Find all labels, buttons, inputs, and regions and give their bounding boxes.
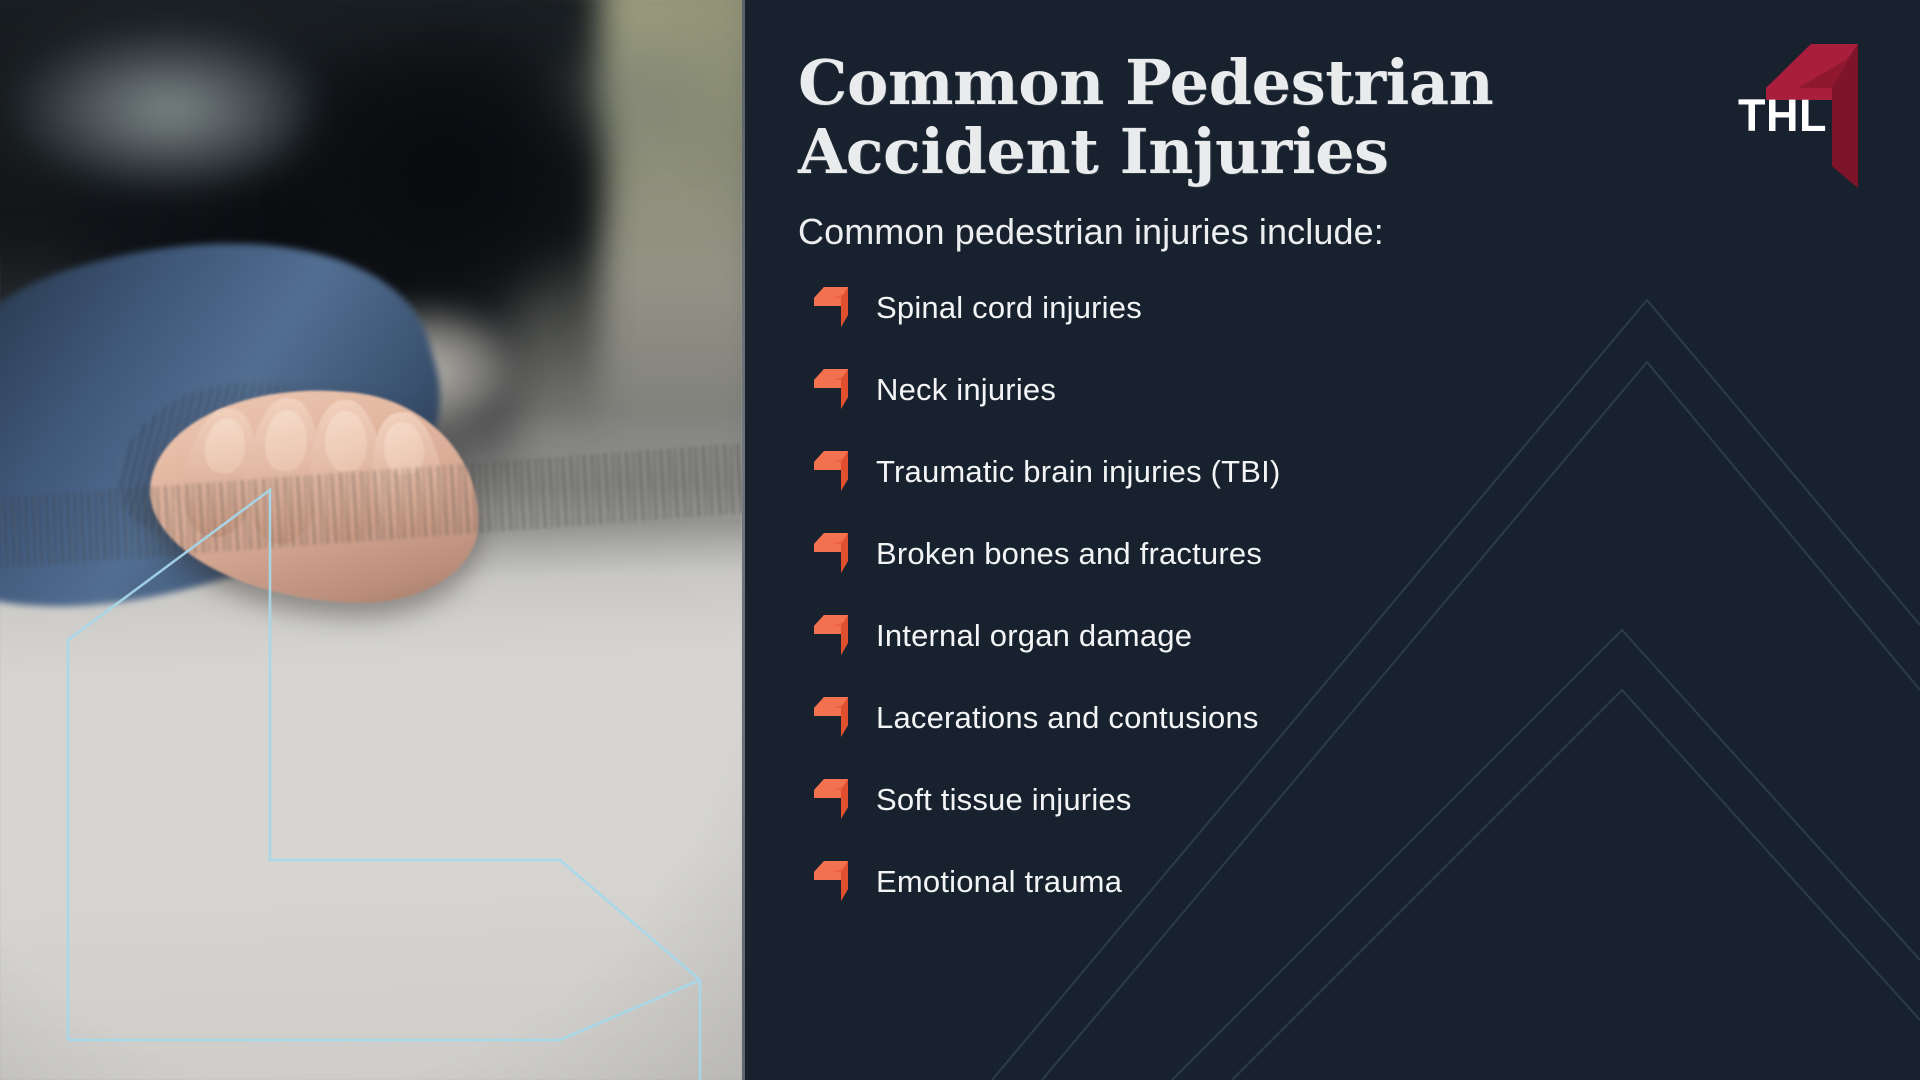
- list-item: Emotional trauma: [798, 849, 1860, 915]
- thl-logo[interactable]: THL: [1736, 38, 1858, 188]
- subtitle: Common pedestrian injuries include:: [798, 211, 1860, 253]
- list-item: Lacerations and contusions: [798, 685, 1860, 751]
- list-item-label: Internal organ damage: [876, 618, 1192, 654]
- list-item-label: Neck injuries: [876, 372, 1056, 408]
- list-item-label: Soft tissue injuries: [876, 782, 1132, 818]
- arrow-bullet-icon: [814, 531, 854, 573]
- panel-divider: [742, 0, 745, 1080]
- list-item: Broken bones and fractures: [798, 521, 1860, 587]
- list-item-label: Lacerations and contusions: [876, 700, 1259, 736]
- injury-list: Spinal cord injuries Neck injuries: [798, 275, 1860, 915]
- list-item: Neck injuries: [798, 357, 1860, 423]
- arrow-bullet-icon: [814, 285, 854, 327]
- list-item-label: Spinal cord injuries: [876, 290, 1142, 326]
- list-item: Soft tissue injuries: [798, 767, 1860, 833]
- infographic-slide: THL Common Pedestrian Accident Injuries …: [0, 0, 1920, 1080]
- list-item: Traumatic brain injuries (TBI): [798, 439, 1860, 505]
- accident-photo: [0, 0, 742, 1080]
- page-title: Common Pedestrian Accident Injuries: [798, 38, 1658, 187]
- content-panel: THL Common Pedestrian Accident Injuries …: [742, 0, 1920, 1080]
- arrow-bullet-icon: [814, 695, 854, 737]
- list-item-label: Broken bones and fractures: [876, 536, 1262, 572]
- logo-wordmark: THL: [1738, 93, 1827, 138]
- arrow-bullet-icon: [814, 777, 854, 819]
- arrow-bullet-icon: [814, 367, 854, 409]
- list-item-label: Emotional trauma: [876, 864, 1122, 900]
- list-item: Internal organ damage: [798, 603, 1860, 669]
- list-item-label: Traumatic brain injuries (TBI): [876, 454, 1281, 490]
- arrow-bullet-icon: [814, 613, 854, 655]
- arrow-bullet-icon: [814, 449, 854, 491]
- list-item: Spinal cord injuries: [798, 275, 1860, 341]
- arrow-bullet-icon: [814, 859, 854, 901]
- photo-vignette: [0, 0, 742, 1080]
